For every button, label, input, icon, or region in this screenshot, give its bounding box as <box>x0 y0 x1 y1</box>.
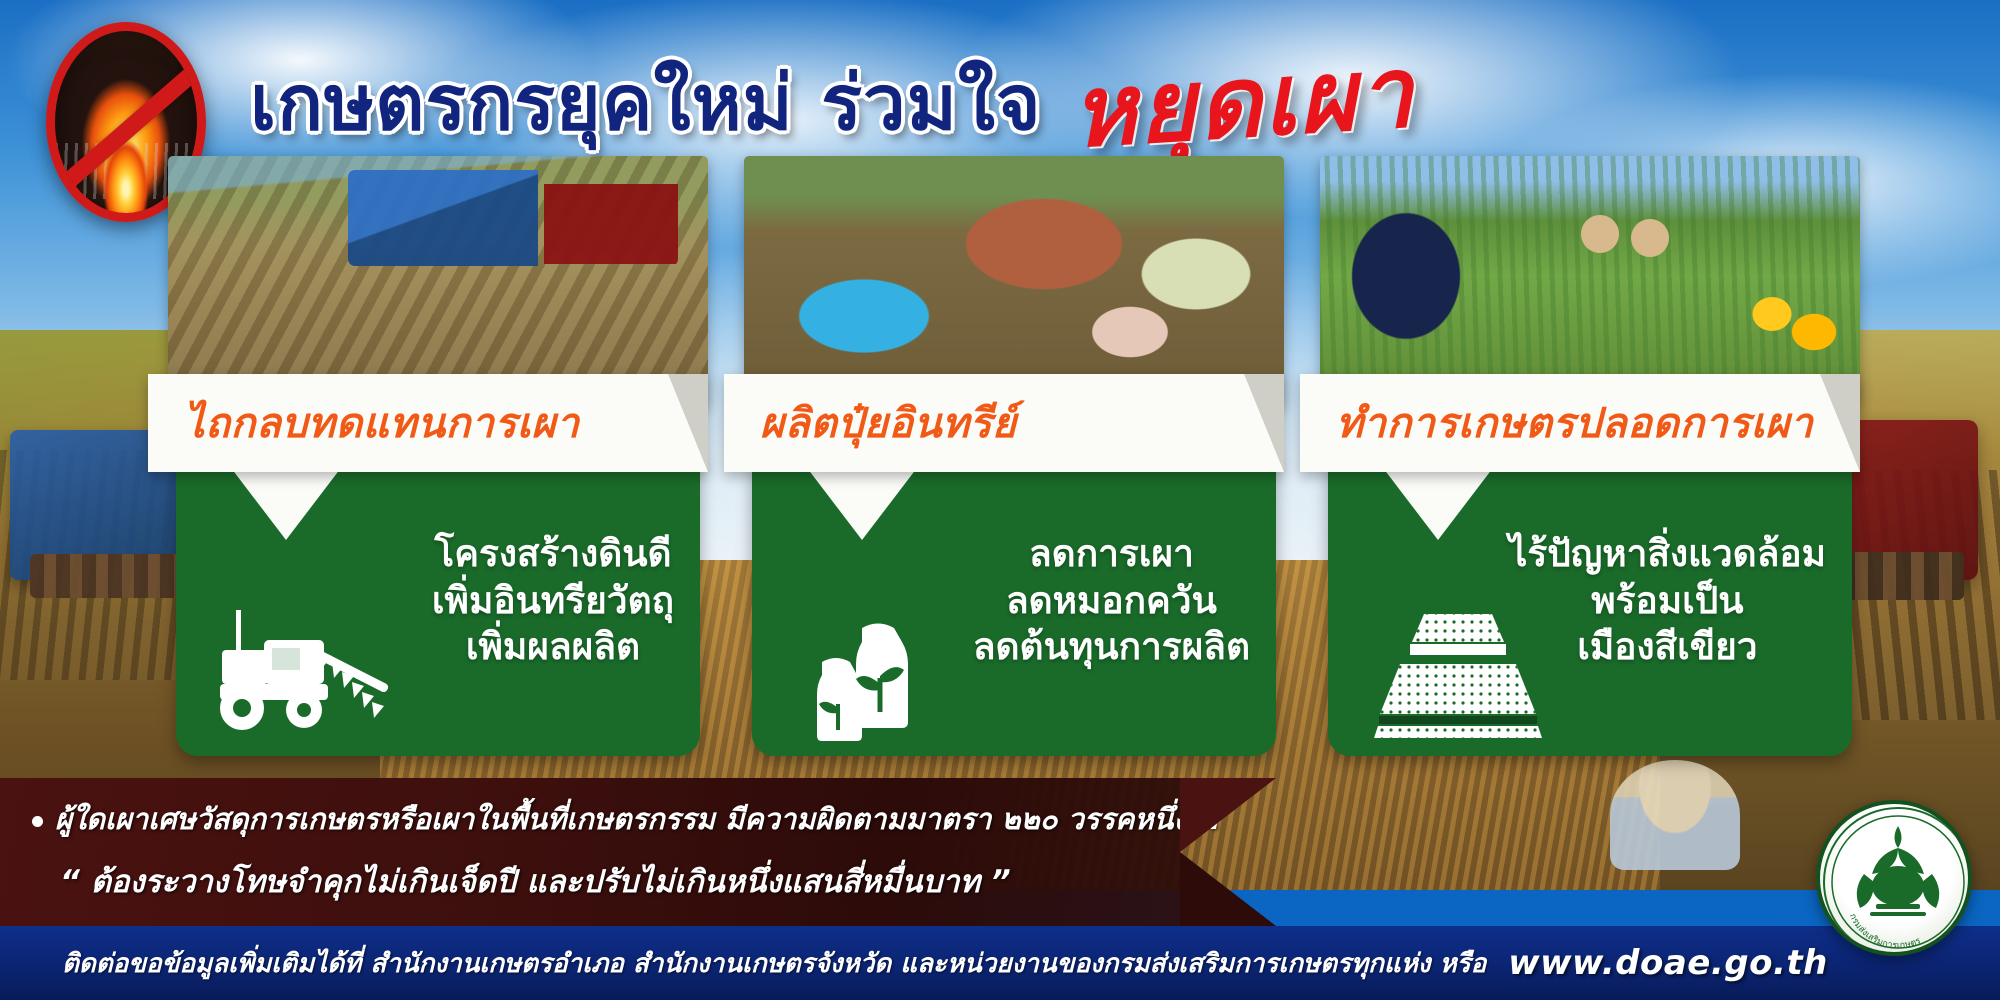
panel-1-body: โครงสร้างดินดี เพิ่มอินทรียวัตถุ เพิ่มผล… <box>176 456 700 756</box>
panel-3-photo <box>1320 156 1860 406</box>
panel-2-line-2: ลดหมอกควัน <box>973 578 1250 625</box>
panel-3-line-1: ไร้ปัญหาสิ่งแวดล้อม <box>1509 531 1826 578</box>
panel-1-title: ไถกลบทดแทนการเผา <box>184 391 579 456</box>
panel-group: ไถกลบทดแทนการเผา <box>168 156 1868 756</box>
svg-text:กรมส่งเสริมการเกษตร: กรมส่งเสริมการเกษตร <box>1847 912 1923 951</box>
panel-3-line-3: เมืองสีเขียว <box>1509 624 1826 671</box>
panel-3-title: ทำการเกษตรปลอดการเผา <box>1336 391 1813 456</box>
panel-1-title-banner: ไถกลบทดแทนการเผา <box>148 374 708 472</box>
panel-1-photo <box>168 156 708 406</box>
panel-2-line-1: ลดการเผา <box>973 531 1250 578</box>
headline-blue-text: เกษตรกรยุคใหม่ ร่วมใจ <box>250 63 1041 143</box>
panel-3-text-block: ไร้ปัญหาสิ่งแวดล้อม พร้อมเป็น เมืองสีเขี… <box>1328 456 1852 756</box>
legal-line-1: ผู้ใดเผาเศษวัสดุการเกษตรหรือเผาในพื้นที่… <box>26 796 1180 842</box>
panel-1-line-2: เพิ่มอินทรียวัตถุ <box>432 578 674 625</box>
banner-fold-corner <box>1244 374 1284 472</box>
legal-warning-banner: ผู้ใดเผาเศษวัสดุการเกษตรหรือเผาในพื้นที่… <box>0 778 1180 926</box>
footer-contact-text: ติดต่อขอข้อมูลเพิ่มเติมได้ที่ สำนักงานเก… <box>62 943 1486 984</box>
panel-3-line-2: พร้อมเป็น <box>1509 578 1826 625</box>
farmer-with-hat-photo <box>1610 760 1740 870</box>
panel-1-line-3: เพิ่มผลผลิต <box>432 624 674 671</box>
legal-line-2: “ ต้องระวางโทษจำคุกไม่เกินเจ็ดปี และปรับ… <box>26 856 1180 906</box>
poster-root: เกษตรกรยุคใหม่ ร่วมใจ หยุดเผา ไถกลบทดแทน… <box>0 0 2000 1000</box>
bullet-icon <box>32 816 43 827</box>
panel-1-text-block: โครงสร้างดินดี เพิ่มอินทรียวัตถุ เพิ่มผล… <box>176 456 700 756</box>
panel-2-line-3: ลดต้นทุนการผลิต <box>973 624 1250 671</box>
panel-2-title: ผลิตปุ๋ยอินทรีย์ <box>760 391 1017 456</box>
panel-3-title-banner: ทำการเกษตรปลอดการเผา <box>1300 374 1860 472</box>
banner-fold-corner <box>668 374 708 472</box>
panel-burn-free-farming: ทำการเกษตรปลอดการเผา <box>1320 156 1860 756</box>
panel-1-line-1: โครงสร้างดินดี <box>432 531 674 578</box>
panel-2-photo <box>744 156 1284 406</box>
headline-red-text: หยุดเผา <box>1069 44 1418 163</box>
panel-2-body: ลดการเผา ลดหมอกควัน ลดต้นทุนการผลิต <box>752 456 1276 756</box>
banner-fold-corner <box>1820 374 1860 472</box>
panel-plow-instead-of-burning: ไถกลบทดแทนการเผา <box>168 156 708 756</box>
panel-3-body: ไร้ปัญหาสิ่งแวดล้อม พร้อมเป็น เมืองสีเขี… <box>1328 456 1852 756</box>
panel-produce-organic-fertilizer: ผลิตปุ๋ยอินทรีย์ <box>744 156 1284 756</box>
panel-2-title-banner: ผลิตปุ๋ยอินทรีย์ <box>724 374 1284 472</box>
legal-line-1-text: ผู้ใดเผาเศษวัสดุการเกษตรหรือเผาในพื้นที่… <box>55 802 1221 836</box>
footer-website-url[interactable]: www.doae.go.th <box>1508 943 1828 983</box>
panel-2-text-block: ลดการเผา ลดหมอกควัน ลดต้นทุนการผลิต <box>752 456 1276 756</box>
footer-bar: ติดต่อขอข้อมูลเพิ่มเติมได้ที่ สำนักงานเก… <box>0 926 2000 1000</box>
doae-department-seal: กรมส่งเสริมการเกษตร <box>1816 800 1972 956</box>
poster-headline: เกษตรกรยุคใหม่ ร่วมใจ หยุดเผา <box>250 38 1970 168</box>
